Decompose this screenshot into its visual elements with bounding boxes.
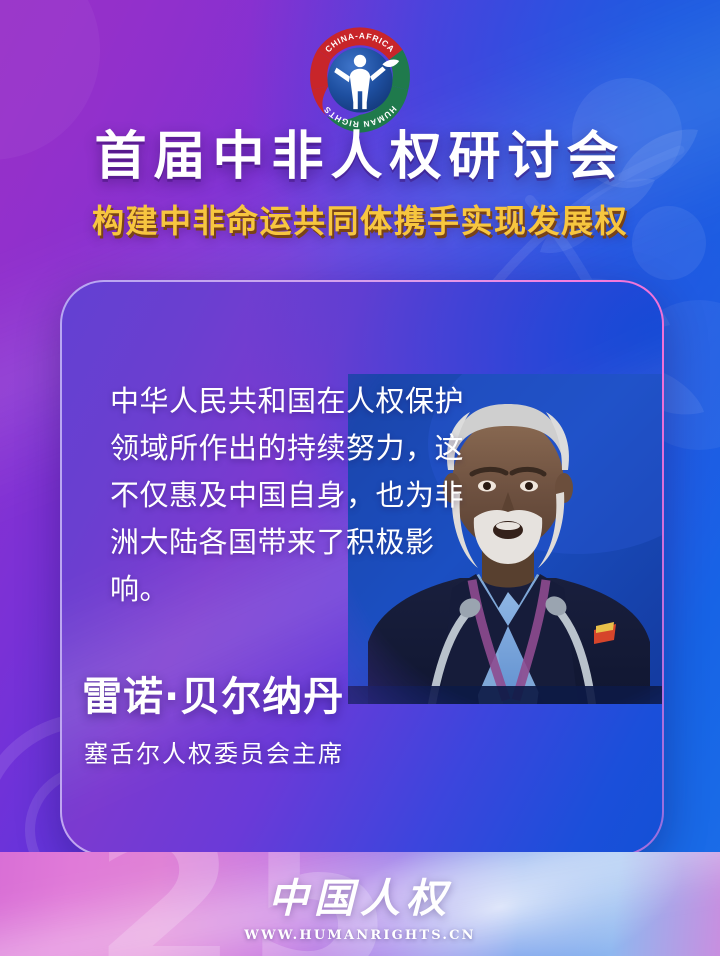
brand-name-cn: 中国人权 (244, 866, 476, 924)
quote-card: 中华人民共和国在人权保护领域所作出的持续努力，这不仅惠及中国自身，也为非洲大陆各… (60, 280, 664, 856)
speaker-role: 塞舌尔人权委员会主席 (84, 734, 344, 769)
speaker-name: 雷诺·贝尔纳丹 (82, 664, 344, 722)
china-africa-human-rights-logo: CHINA-AFRICA HUMAN RIGHTS (304, 24, 416, 136)
page-subtitle: 构建中非命运共同体携手实现发展权 (0, 196, 720, 242)
quote-card-inner: 中华人民共和国在人权保护领域所作出的持续努力，这不仅惠及中国自身，也为非洲大陆各… (62, 282, 662, 854)
footer-brand: 中国人权 WWW.HUMANRIGHTS.CN (244, 866, 476, 943)
brand-website-url: WWW.HUMANRIGHTS.CN (244, 928, 476, 943)
page-title: 首届中非人权研讨会 (0, 128, 720, 186)
quote-text: 中华人民共和国在人权保护领域所作出的持续努力，这不仅惠及中国自身，也为非洲大陆各… (110, 378, 470, 613)
poster-root: CHINA-AFRICA HUMAN RIGHTS 首届中非人权研讨会 构建中非… (0, 0, 720, 956)
title-block: 首届中非人权研讨会 构建中非命运共同体携手实现发展权 (0, 128, 720, 242)
footer-bar: 25 中国人权 WWW.HUMANRIGHTS.CN (0, 852, 720, 956)
